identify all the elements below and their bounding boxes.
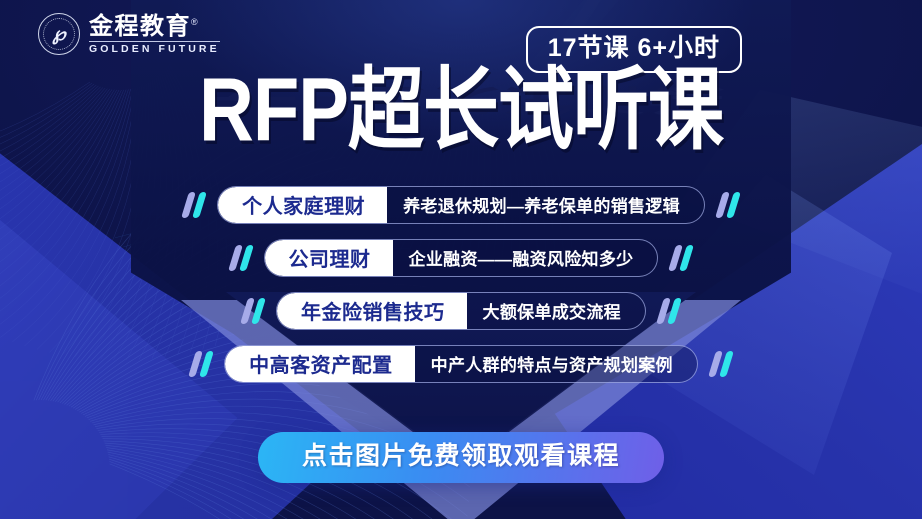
slash-decoration-right-icon <box>660 298 678 324</box>
list-item[interactable]: 中高客资产配置 中产人群的特点与资产规划案例 <box>0 337 922 390</box>
course-capsule[interactable]: 年金险销售技巧 大额保单成交流程 <box>276 292 646 330</box>
slash-decoration-right-icon <box>712 351 730 377</box>
registered-mark-icon: ® <box>191 17 199 27</box>
list-item[interactable]: 年金险销售技巧 大额保单成交流程 <box>0 284 922 337</box>
course-category: 中高客资产配置 <box>225 346 415 382</box>
slash-decoration-left-icon <box>244 298 262 324</box>
page-title: RFP超长试听课 <box>0 66 922 142</box>
promo-banner: ℘ 金程教育® GOLDEN FUTURE 17节课 6+小时 RFP超长试听课… <box>0 0 922 519</box>
slash-decoration-left-icon <box>192 351 210 377</box>
list-item[interactable]: 个人家庭理财 养老退休规划—养老保单的销售逻辑 <box>0 178 922 231</box>
logo-text-block: 金程教育® GOLDEN FUTURE <box>89 14 220 55</box>
course-category: 年金险销售技巧 <box>277 293 467 329</box>
course-capsule[interactable]: 个人家庭理财 养老退休规划—养老保单的销售逻辑 <box>217 186 705 224</box>
logo-emblem-icon: ℘ <box>38 13 80 55</box>
brand-logo: ℘ 金程教育® GOLDEN FUTURE <box>38 13 220 55</box>
page-title-text: RFP超长试听课 <box>199 66 723 156</box>
slash-decoration-left-icon <box>232 245 250 271</box>
course-capsule[interactable]: 中高客资产配置 中产人群的特点与资产规划案例 <box>224 345 698 383</box>
logo-name-cn-text: 金程教育 <box>89 13 191 40</box>
logo-monogram: ℘ <box>52 25 65 44</box>
logo-name-en: GOLDEN FUTURE <box>89 41 220 55</box>
cta-button[interactable]: 点击图片免费领取观看课程 <box>258 432 664 483</box>
course-list: 个人家庭理财 养老退休规划—养老保单的销售逻辑 公司理财 企业融资——融资风险知… <box>0 178 922 390</box>
course-description: 中产人群的特点与资产规划案例 <box>415 346 697 382</box>
slash-decoration-right-icon <box>672 245 690 271</box>
course-capsule[interactable]: 公司理财 企业融资——融资风险知多少 <box>264 239 659 277</box>
course-category: 公司理财 <box>265 240 393 276</box>
course-description: 养老退休规划—养老保单的销售逻辑 <box>387 187 704 223</box>
logo-name-cn: 金程教育® <box>89 14 220 39</box>
course-description: 企业融资——融资风险知多少 <box>393 240 658 276</box>
course-category: 个人家庭理财 <box>218 187 387 223</box>
slash-decoration-right-icon <box>719 192 737 218</box>
course-description: 大额保单成交流程 <box>467 293 645 329</box>
list-item[interactable]: 公司理财 企业融资——融资风险知多少 <box>0 231 922 284</box>
slash-decoration-left-icon <box>185 192 203 218</box>
